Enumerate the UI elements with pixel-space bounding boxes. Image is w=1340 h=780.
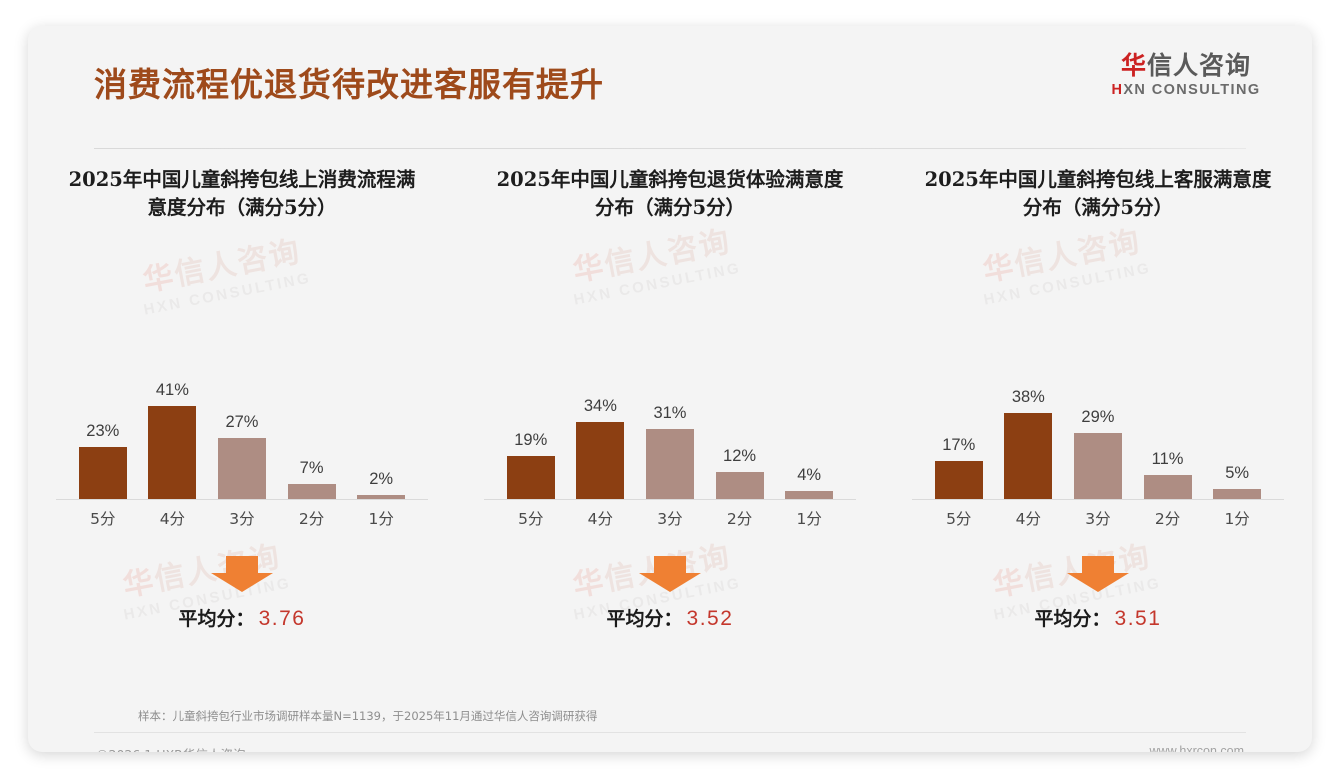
x-axis-tick: 2分: [279, 507, 345, 529]
x-axis-tick: 1分: [1204, 507, 1270, 529]
bar-item: 38%: [995, 270, 1061, 500]
average-score-value: 3.52: [687, 607, 734, 630]
average-score-label: 平均分：: [607, 608, 683, 630]
copyright-text: ©2026.1 HXR华信人咨询: [96, 744, 245, 752]
arrow-stem: [654, 556, 686, 573]
logo-english: HXN CONSULTING: [1100, 82, 1272, 98]
bar: [288, 484, 336, 500]
arrow-container: [470, 552, 870, 596]
bars-group: 23% 41% 27% 7%: [68, 270, 416, 500]
x-axis-tick: 5分: [926, 507, 992, 529]
bar: [218, 438, 266, 500]
average-score-label: 平均分：: [1035, 608, 1111, 630]
page-title: 消费流程优退货待改进客服有提升: [94, 58, 604, 106]
bar-item: 31%: [637, 270, 703, 500]
footer-divider: [94, 732, 1246, 733]
average-score: 平均分：3.51: [898, 604, 1298, 631]
bar-item: 2%: [348, 270, 414, 500]
bar-value-label: 41%: [156, 381, 189, 400]
chart-title: 2025年中国儿童斜挎包线上消费流程满意度分布（满分5分）: [42, 166, 442, 230]
source-footnote: 样本：儿童斜挎包行业市场调研样本量N=1139，于2025年11月通过华信人咨询…: [138, 708, 597, 724]
bar-value-label: 23%: [86, 422, 119, 441]
charts-container: 2025年中国儿童斜挎包线上消费流程满意度分布（满分5分） 23% 41% 27…: [28, 166, 1312, 631]
bar-value-label: 17%: [942, 436, 975, 455]
bar-item: 29%: [1065, 270, 1131, 500]
bar: [716, 472, 764, 500]
x-axis-tick: 4分: [139, 507, 205, 529]
bar-value-label: 27%: [225, 413, 258, 432]
bar: [935, 461, 983, 500]
logo-chinese: 华信人咨询: [1100, 53, 1272, 79]
x-axis-labels: 5分 4分 3分 2分 1分: [924, 504, 1272, 532]
logo-english-rest: XN CONSULTING: [1123, 82, 1260, 98]
bar-value-label: 29%: [1081, 408, 1114, 427]
bar-item: 5%: [1204, 270, 1270, 500]
bar-item: 12%: [707, 270, 773, 500]
x-axis-line: [56, 499, 428, 500]
chart-title: 2025年中国儿童斜挎包退货体验满意度分布（满分5分）: [470, 166, 870, 230]
arrow-down-icon: [1067, 556, 1129, 592]
bar-item: 19%: [498, 270, 564, 500]
bar-item: 34%: [567, 270, 633, 500]
chart-panel-customer-service: 2025年中国儿童斜挎包线上客服满意度分布（满分5分） 17% 38% 29%: [884, 166, 1312, 631]
average-score-value: 3.51: [1115, 607, 1162, 630]
bar-item: 23%: [70, 270, 136, 500]
bar: [1004, 413, 1052, 500]
arrow-container: [42, 552, 442, 596]
x-axis-tick: 4分: [995, 507, 1061, 529]
logo-english-accent: H: [1111, 82, 1123, 98]
arrow-container: [898, 552, 1298, 596]
bar-item: 27%: [209, 270, 275, 500]
arrow-head: [211, 573, 273, 592]
slide: 消费流程优退货待改进客服有提升 华信人咨询 HXN CONSULTING 华信人…: [28, 26, 1312, 752]
x-axis-tick: 1分: [348, 507, 414, 529]
bar-value-label: 12%: [723, 447, 756, 466]
bar: [576, 422, 624, 500]
bar-chart: 19% 34% 31% 12%: [470, 270, 870, 532]
bar: [79, 447, 127, 500]
chart-panel-consumption-process: 2025年中国儿童斜挎包线上消费流程满意度分布（满分5分） 23% 41% 27…: [28, 166, 456, 631]
slide-header: 消费流程优退货待改进客服有提升 华信人咨询 HXN CONSULTING: [28, 26, 1312, 118]
bar-item: 11%: [1134, 270, 1200, 500]
x-axis-tick: 3分: [637, 507, 703, 529]
logo-chinese-rest: 信人咨询: [1147, 51, 1251, 80]
x-axis-tick: 3分: [1065, 507, 1131, 529]
header-divider: [94, 148, 1246, 149]
average-score: 平均分：3.76: [42, 604, 442, 631]
arrow-stem: [1082, 556, 1114, 573]
x-axis-tick: 5分: [498, 507, 564, 529]
x-axis-tick: 1分: [776, 507, 842, 529]
bar-value-label: 2%: [369, 470, 393, 489]
x-axis-line: [484, 499, 856, 500]
bar-chart: 23% 41% 27% 7%: [42, 270, 442, 532]
bar-value-label: 7%: [300, 459, 324, 478]
slide-footer: ©2026.1 HXR华信人咨询 www.hxrcon.com: [28, 738, 1312, 752]
arrow-down-icon: [211, 556, 273, 592]
bar-value-label: 31%: [653, 404, 686, 423]
arrow-head: [639, 573, 701, 592]
bar: [1074, 433, 1122, 500]
bar-item: 41%: [139, 270, 205, 500]
bar-value-label: 19%: [514, 431, 547, 450]
website-url: www.hxrcon.com: [1150, 744, 1244, 752]
bar: [1144, 475, 1192, 500]
x-axis-labels: 5分 4分 3分 2分 1分: [68, 504, 416, 532]
average-score: 平均分：3.52: [470, 604, 870, 631]
bar: [646, 429, 694, 500]
bar-value-label: 5%: [1225, 464, 1249, 483]
x-axis-tick: 3分: [209, 507, 275, 529]
average-score-value: 3.76: [259, 607, 306, 630]
x-axis-labels: 5分 4分 3分 2分 1分: [496, 504, 844, 532]
bar-item: 4%: [776, 270, 842, 500]
bar-item: 17%: [926, 270, 992, 500]
x-axis-line: [912, 499, 1284, 500]
bar-value-label: 11%: [1152, 450, 1184, 469]
x-axis-tick: 2分: [1134, 507, 1200, 529]
x-axis-tick: 5分: [70, 507, 136, 529]
x-axis-tick: 4分: [567, 507, 633, 529]
company-logo: 华信人咨询 HXN CONSULTING: [1100, 53, 1272, 98]
bar: [507, 456, 555, 500]
bars-group: 17% 38% 29% 11%: [924, 270, 1272, 500]
bar-value-label: 34%: [584, 397, 617, 416]
average-score-label: 平均分：: [179, 608, 255, 630]
bar-item: 7%: [279, 270, 345, 500]
arrow-stem: [226, 556, 258, 573]
bar-value-label: 4%: [797, 466, 821, 485]
arrow-down-icon: [639, 556, 701, 592]
logo-chinese-accent: 华: [1121, 51, 1147, 80]
bar-value-label: 38%: [1012, 388, 1045, 407]
chart-title: 2025年中国儿童斜挎包线上客服满意度分布（满分5分）: [898, 166, 1298, 230]
bar: [148, 406, 196, 500]
chart-panel-return-experience: 2025年中国儿童斜挎包退货体验满意度分布（满分5分） 19% 34% 31%: [456, 166, 884, 631]
bars-group: 19% 34% 31% 12%: [496, 270, 844, 500]
x-axis-tick: 2分: [707, 507, 773, 529]
bar-chart: 17% 38% 29% 11%: [898, 270, 1298, 532]
arrow-head: [1067, 573, 1129, 592]
